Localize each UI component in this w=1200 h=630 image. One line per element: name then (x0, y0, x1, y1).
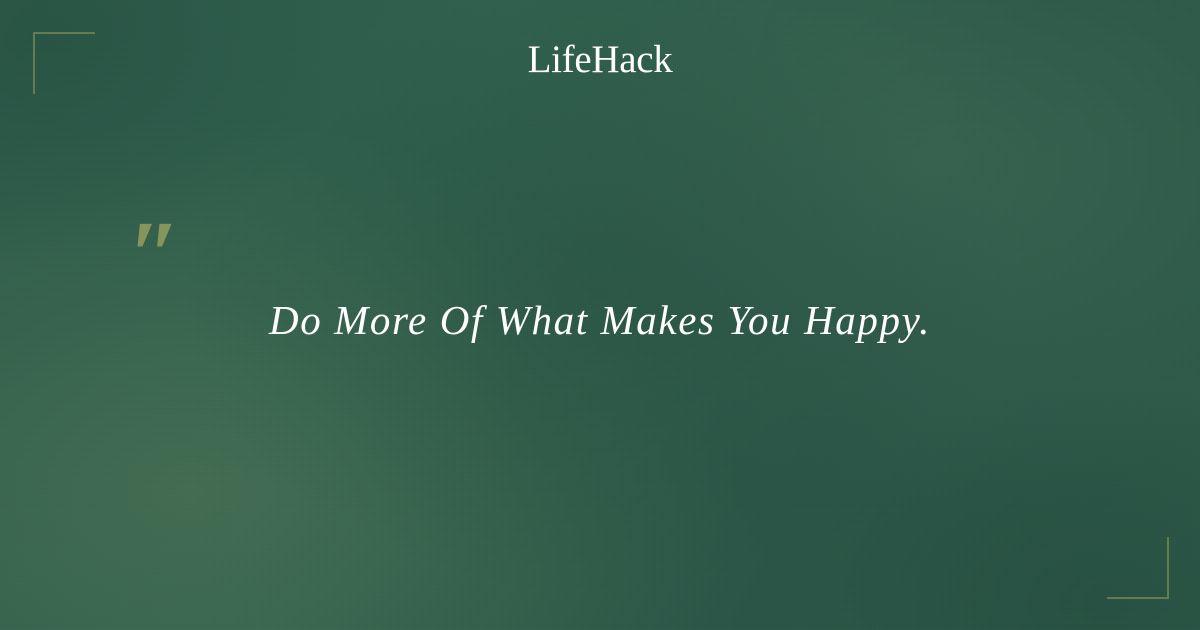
quote-card: LifeHack ″ Do More Of What Makes You Hap… (0, 0, 1200, 630)
quotation-mark-icon: ″ (128, 207, 188, 277)
corner-bracket-bottom-right-icon (1107, 537, 1169, 599)
quote-block: Do More Of What Makes You Happy. (0, 296, 1200, 344)
brand-name-text: LifeHack (528, 40, 673, 79)
quote-text: Do More Of What Makes You Happy. (269, 296, 931, 344)
brand-logo: LifeHack (0, 40, 1200, 79)
